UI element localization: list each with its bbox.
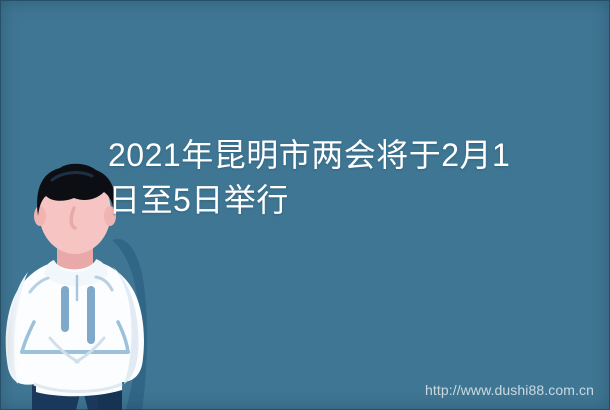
headline-line-2: 日至5日举行 <box>108 178 538 223</box>
news-banner: 2021年昆明市两会将于2月1 日至5日举行 http://www.dushi8… <box>0 0 610 410</box>
ear-left <box>34 206 46 226</box>
drawstring-left <box>61 286 69 332</box>
drawstring-right <box>87 286 95 344</box>
watermark-url: http://www.dushi88.com.cn <box>425 382 594 398</box>
headline: 2021年昆明市两会将于2月1 日至5日举行 <box>108 133 538 223</box>
headline-line-1: 2021年昆明市两会将于2月1 <box>108 133 538 178</box>
